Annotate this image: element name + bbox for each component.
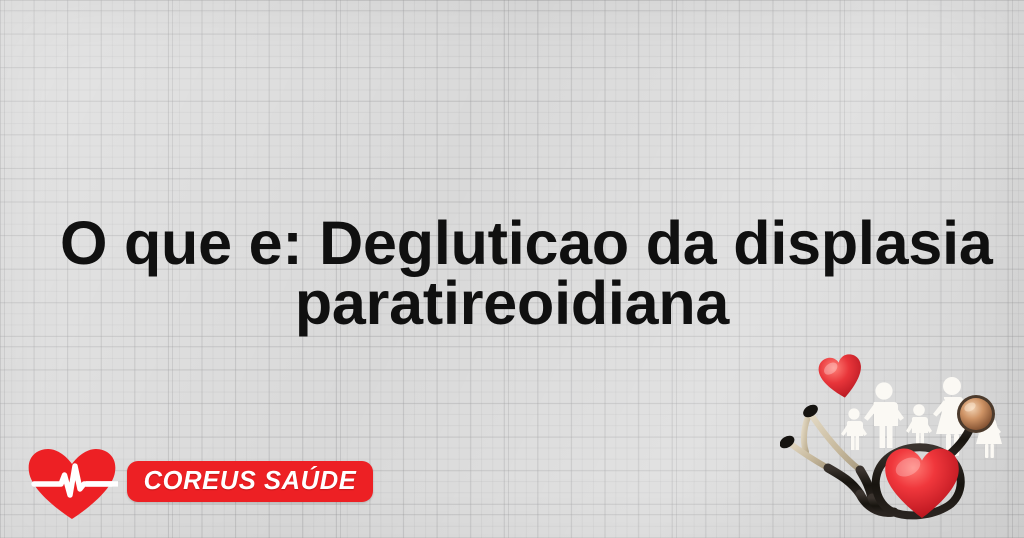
brand-badge[interactable]: COREUS SAÚDE: [127, 461, 373, 502]
small-heart-icon: [817, 352, 866, 401]
healthcare-collage-illustration: [780, 348, 1024, 538]
slide-canvas: O que e: Degluticao da displasia paratir…: [0, 0, 1024, 538]
stethoscope-chestpiece-icon: [957, 395, 995, 433]
page-title-line-1: O que e: Degluticao da displasia: [60, 213, 964, 273]
brand-name-label: COREUS SAÚDE: [144, 469, 357, 495]
page-title-line-2: paratireoidiana: [60, 273, 964, 333]
heart-pulse-icon: [26, 448, 118, 520]
brand-logo[interactable]: COREUS SAÚDE: [26, 446, 356, 518]
page-title: O que e: Degluticao da displasia paratir…: [0, 213, 1024, 333]
